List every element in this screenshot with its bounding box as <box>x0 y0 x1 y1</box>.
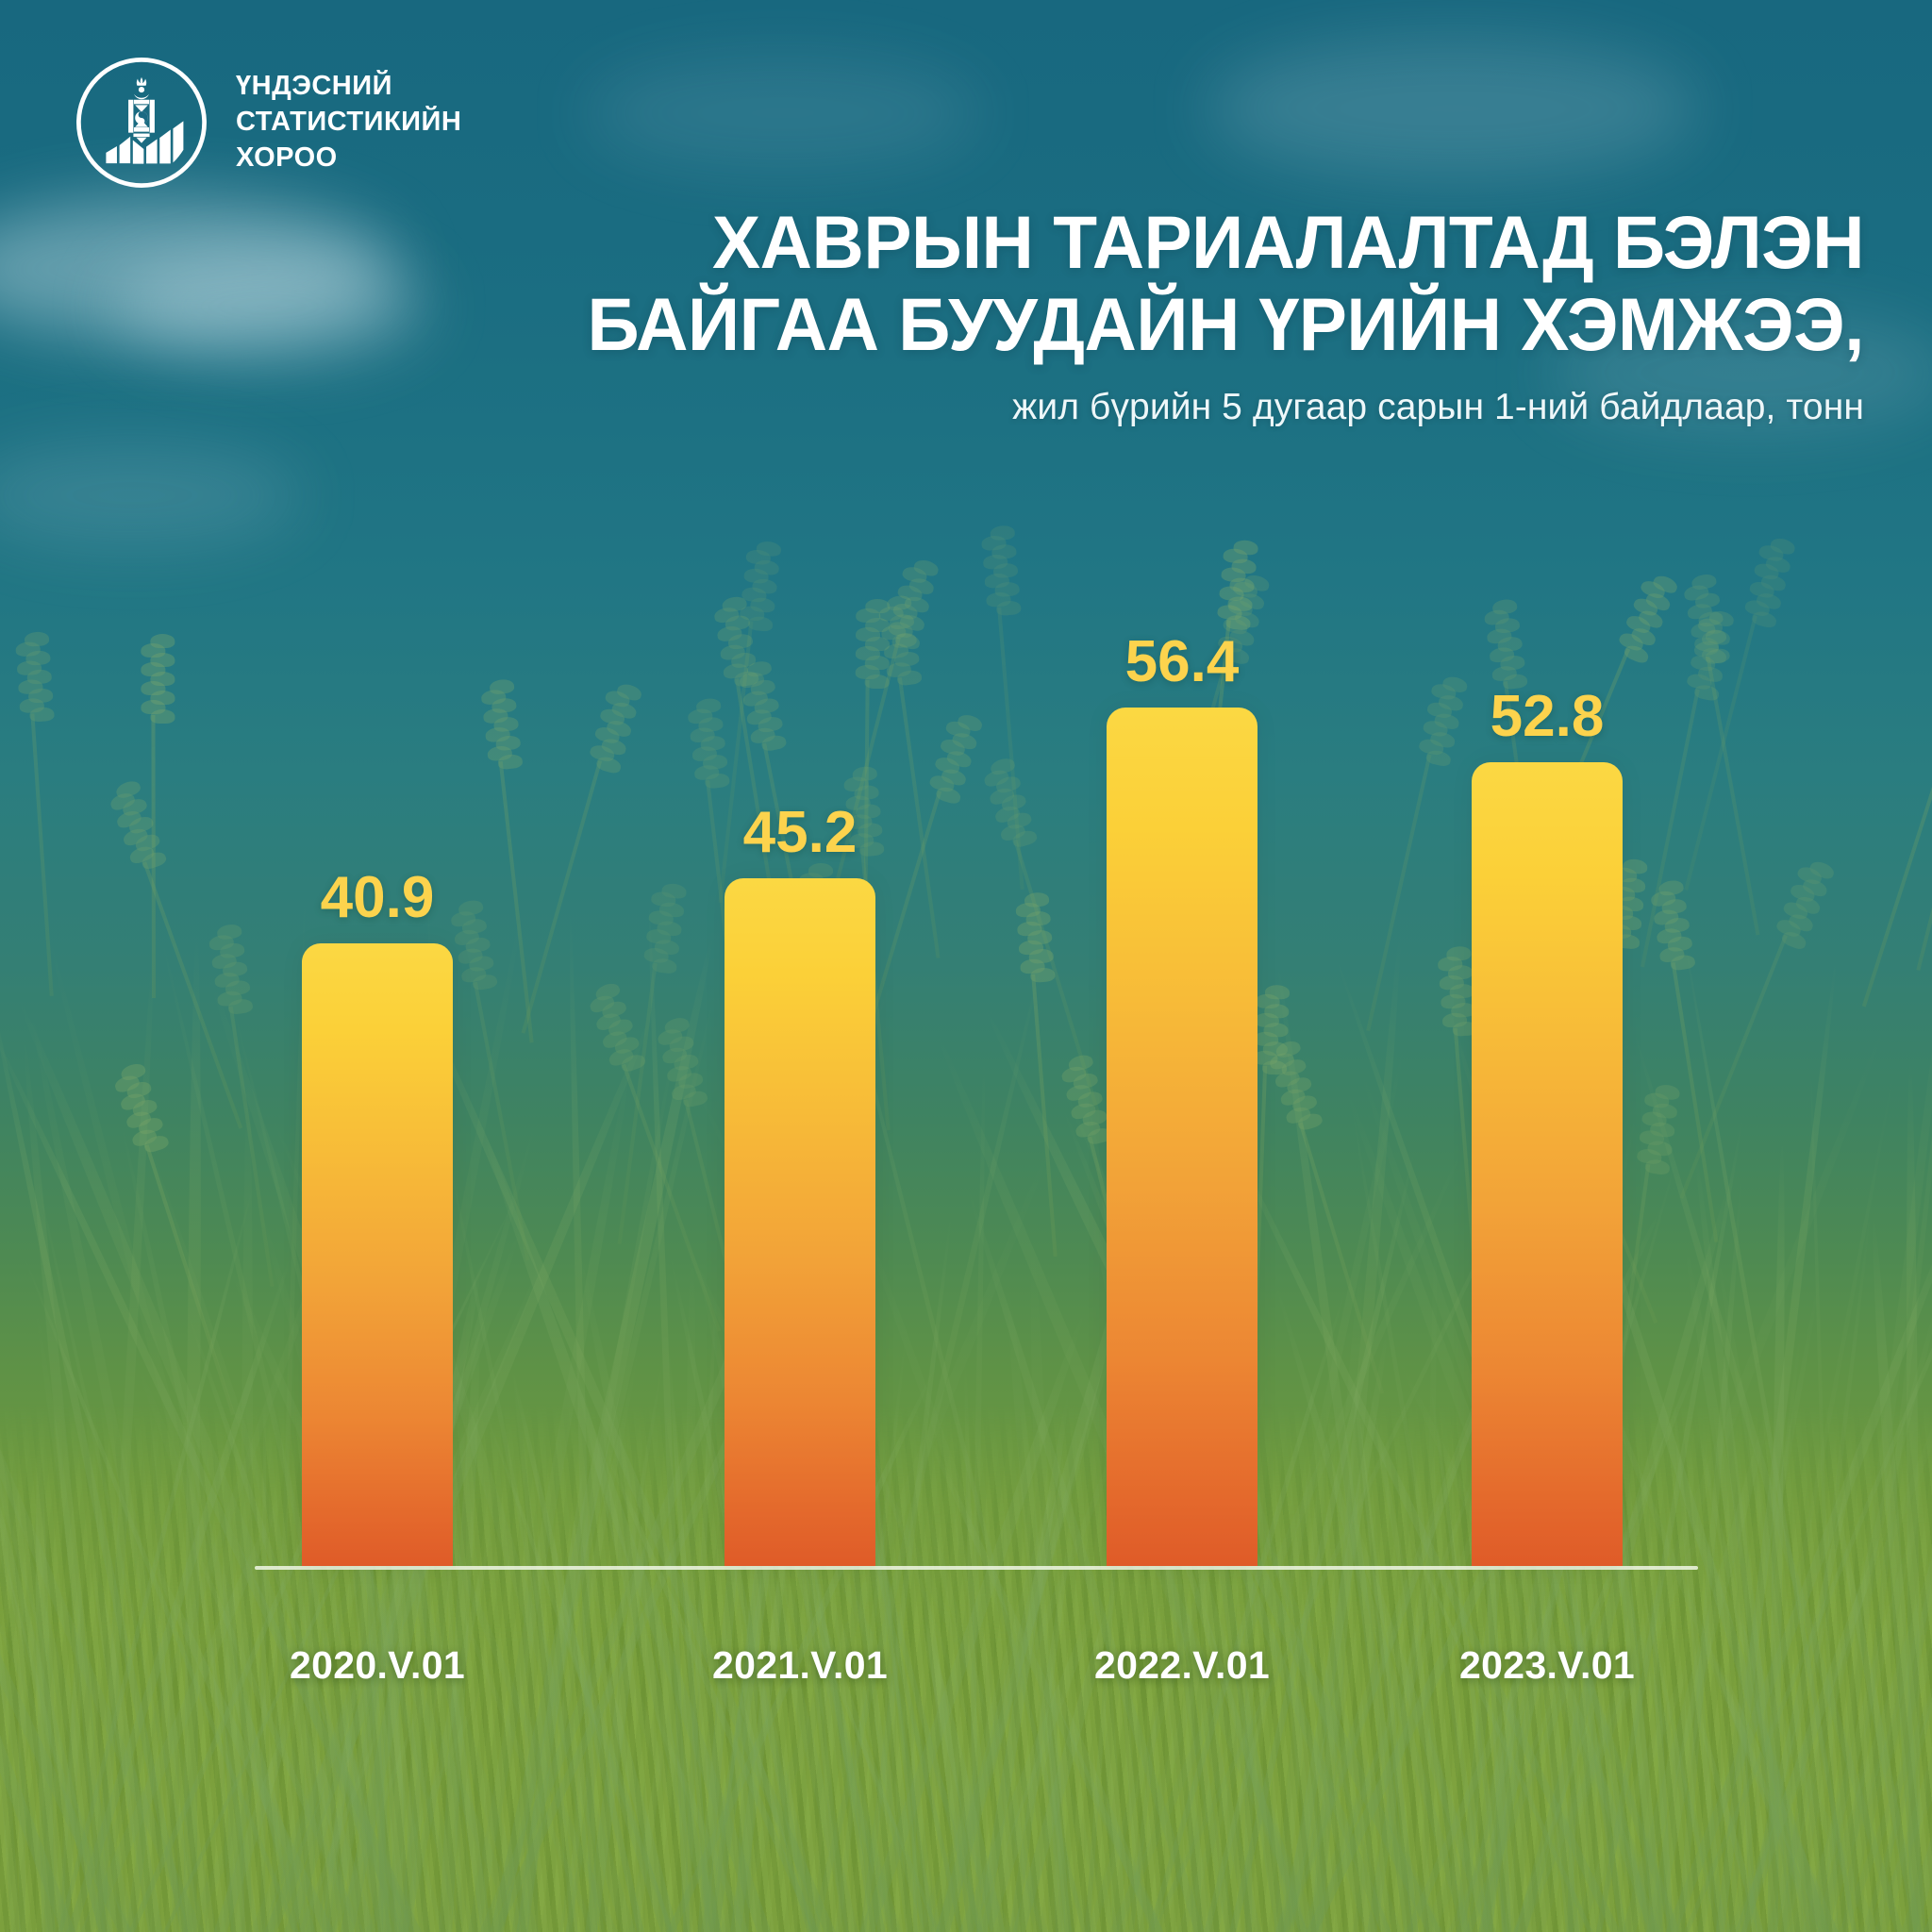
bar-value-label: 40.9 <box>236 864 519 931</box>
bar-value-label: 45.2 <box>658 799 941 866</box>
bar-2022.V.01 <box>1107 708 1257 1566</box>
category-label: 2022.V.01 <box>1003 1643 1361 1688</box>
bar-2023.V.01 <box>1472 762 1623 1566</box>
category-label: 2020.V.01 <box>198 1643 557 1688</box>
bar-chart: 40.92020.V.0145.22021.V.0156.42022.V.015… <box>0 0 1932 1932</box>
bar-value-label: 52.8 <box>1406 683 1689 750</box>
bar-value-label: 56.4 <box>1041 628 1324 695</box>
chart-axis-line <box>255 1566 1698 1570</box>
category-label: 2021.V.01 <box>621 1643 979 1688</box>
infographic-poster: ҮНДЭСНИЙ СТАТИСТИКИЙН ХОРОО ХАВРЫН ТАРИА… <box>0 0 1932 1932</box>
category-label: 2023.V.01 <box>1368 1643 1726 1688</box>
bar-2021.V.01 <box>724 878 875 1566</box>
bar-2020.V.01 <box>302 943 453 1566</box>
